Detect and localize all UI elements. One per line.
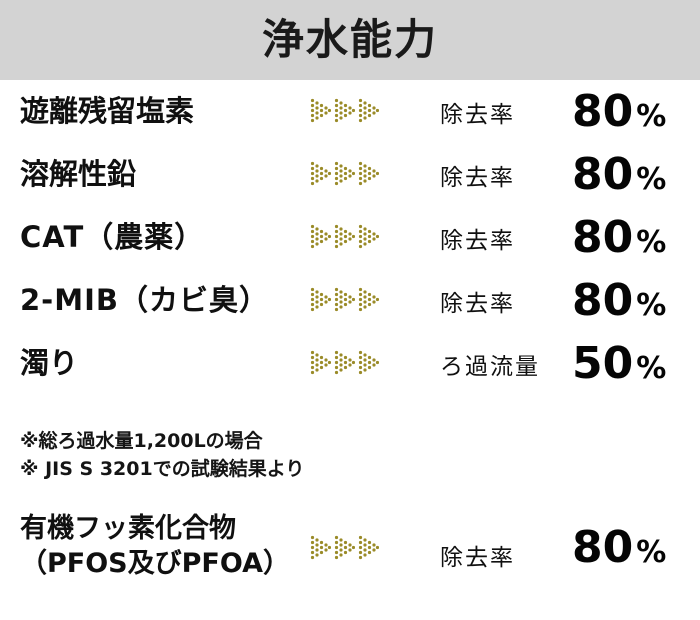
- substance-label: 2-MIB（カビ臭）: [20, 285, 269, 315]
- metric-label: ろ過流量: [440, 347, 540, 381]
- dotted-right-arrow-icon: [334, 350, 355, 377]
- substance-label-line2: （PFOS及びPFOA）: [20, 547, 290, 582]
- metric-unit: %: [636, 538, 666, 568]
- metric-unit: %: [636, 354, 666, 384]
- dotted-right-arrow-icon: [334, 98, 355, 125]
- table-row: CAT（農薬）: [0, 206, 700, 269]
- metric-value: 80%: [572, 153, 666, 197]
- dotted-right-arrow-icon: [310, 161, 331, 188]
- substance-label: 濁り: [20, 348, 78, 378]
- arrow-group: [310, 287, 380, 315]
- metric-number: 80: [572, 526, 633, 570]
- substance-label: 遊離残留塩素: [20, 96, 194, 126]
- table-row-pfas: 有機フッ素化合物 （PFOS及びPFOA）: [0, 508, 700, 588]
- metric-number: 80: [572, 153, 633, 197]
- metric-number: 50: [572, 342, 633, 386]
- note-line: ※ JIS S 3201での試験結果より: [20, 456, 440, 484]
- dotted-right-arrow-icon: [334, 535, 355, 562]
- metric-value: 80%: [572, 279, 666, 323]
- metric-label: 除去率: [440, 95, 515, 129]
- table-row: 溶解性鉛: [0, 143, 700, 206]
- arrow-group: [310, 224, 380, 252]
- metric-value: 80%: [572, 526, 666, 570]
- dotted-right-arrow-icon: [310, 350, 331, 377]
- dotted-right-arrow-icon: [358, 98, 379, 125]
- arrow-group: [310, 161, 380, 189]
- substance-label-line1: 有機フッ素化合物: [20, 512, 290, 547]
- substance-label: 有機フッ素化合物 （PFOS及びPFOA）: [20, 512, 290, 581]
- substance-label: 溶解性鉛: [20, 159, 136, 189]
- metric-label: 除去率: [440, 158, 515, 192]
- capability-table: 遊離残留塩素: [0, 80, 700, 395]
- notes-block: ※総ろ過水量1,200Lの場合 ※ JIS S 3201での試験結果より: [20, 428, 440, 483]
- metric-value: 80%: [572, 90, 666, 134]
- dotted-right-arrow-icon: [358, 161, 379, 188]
- page-title: 浄水能力: [262, 19, 438, 61]
- dotted-right-arrow-icon: [310, 287, 331, 314]
- table-row: 2-MIB（カビ臭）: [0, 269, 700, 332]
- metric-unit: %: [636, 228, 666, 258]
- metric-label: 除去率: [440, 284, 515, 318]
- dotted-right-arrow-icon: [358, 224, 379, 251]
- metric-label: 除去率: [440, 221, 515, 255]
- metric-value: 80%: [572, 216, 666, 260]
- dotted-right-arrow-icon: [334, 161, 355, 188]
- dotted-right-arrow-icon: [358, 535, 379, 562]
- header-band: 浄水能力: [0, 0, 700, 80]
- arrow-group: [310, 534, 380, 562]
- table-row: 遊離残留塩素: [0, 80, 700, 143]
- metric-unit: %: [636, 165, 666, 195]
- dotted-right-arrow-icon: [358, 287, 379, 314]
- table-row: 濁り: [0, 332, 700, 395]
- metric-label: 除去率: [440, 538, 515, 572]
- dotted-right-arrow-icon: [334, 224, 355, 251]
- metric-value: 50%: [572, 342, 666, 386]
- dotted-right-arrow-icon: [334, 287, 355, 314]
- arrow-group: [310, 98, 380, 126]
- dotted-right-arrow-icon: [310, 224, 331, 251]
- dotted-right-arrow-icon: [310, 98, 331, 125]
- arrow-group: [310, 350, 380, 378]
- metric-number: 80: [572, 216, 633, 260]
- metric-unit: %: [636, 291, 666, 321]
- note-line: ※総ろ過水量1,200Lの場合: [20, 428, 440, 456]
- dotted-right-arrow-icon: [310, 535, 331, 562]
- dotted-right-arrow-icon: [358, 350, 379, 377]
- substance-label: CAT（農薬）: [20, 222, 204, 252]
- metric-number: 80: [572, 279, 633, 323]
- metric-number: 80: [572, 90, 633, 134]
- metric-unit: %: [636, 102, 666, 132]
